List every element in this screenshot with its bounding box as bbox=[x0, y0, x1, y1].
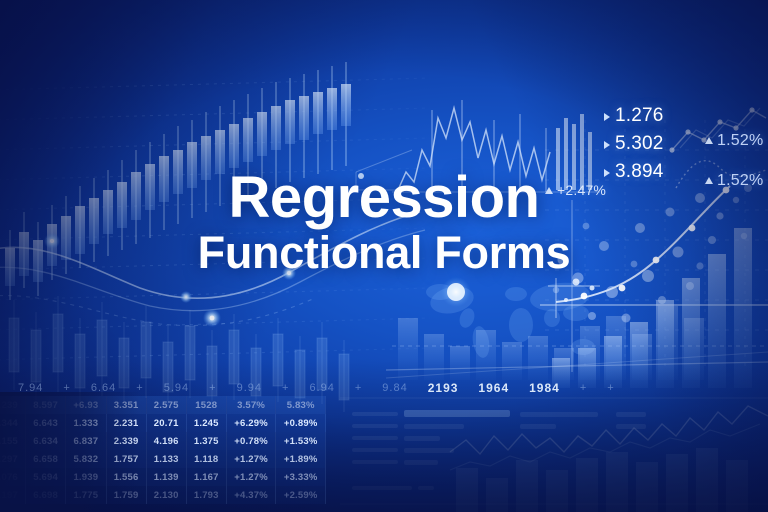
readout-value: 5.302 bbox=[615, 133, 664, 154]
table-cell: 6.837 bbox=[66, 432, 106, 450]
table-cell: 1.333 bbox=[66, 414, 106, 432]
table-cell: 3.351 bbox=[106, 396, 146, 414]
ticker-faint-1: 6.64 bbox=[91, 382, 116, 394]
table-cell: +2.59% bbox=[276, 486, 326, 504]
table-row: 1.2976.6585.8321.7571.1331.118+1.27%+1.8… bbox=[0, 450, 326, 468]
ticker-faint-2: 5.94 bbox=[164, 382, 189, 394]
bullet-arrow-icon bbox=[604, 113, 610, 121]
ticker-sep-1: + bbox=[136, 382, 143, 394]
table-cell: +0.78% bbox=[226, 432, 276, 450]
table-cell: 5.83% bbox=[276, 396, 326, 414]
ticker-sep-4: + bbox=[355, 382, 362, 394]
table-cell: 1.139 bbox=[146, 468, 186, 486]
ticker-sep-5: + bbox=[580, 382, 587, 394]
up-triangle-icon bbox=[705, 137, 713, 144]
hero-banner: 7.94 + 6.64 + 5.94 + 9.94 + 6.94 + 9.84 … bbox=[0, 0, 768, 512]
ticker-faint-4: 6.94 bbox=[309, 382, 334, 394]
table-cell: 2.239 bbox=[0, 396, 26, 414]
readout-3: 1.52% bbox=[705, 132, 763, 150]
table-row: 2.2398.597+6.933.3512.57515283.57%5.83% bbox=[0, 396, 326, 414]
table-cell: 6.658 bbox=[26, 450, 66, 468]
table-cell: +1.27% bbox=[226, 450, 276, 468]
table-cell: +1.27% bbox=[226, 468, 276, 486]
table-cell: +3.33% bbox=[276, 468, 326, 486]
ticker-sep-0: + bbox=[63, 382, 70, 394]
table-cell: 6.643 bbox=[26, 414, 66, 432]
table-cell: +0.89% bbox=[276, 414, 326, 432]
table-cell: 1.197 bbox=[0, 486, 26, 504]
table-cell: +4.37% bbox=[226, 486, 276, 504]
table-cell: 2.575 bbox=[146, 396, 186, 414]
table-cell: 1.375 bbox=[186, 432, 226, 450]
table-cell: 1528 bbox=[186, 396, 226, 414]
table-cell: 1.155 bbox=[0, 432, 26, 450]
ticker-sep-2: + bbox=[209, 382, 216, 394]
ticker-sep-3: + bbox=[282, 382, 289, 394]
table-cell: +1.89% bbox=[276, 450, 326, 468]
table-cell: 3.57% bbox=[226, 396, 276, 414]
table-row: 1.1976.6981.7751.7592.1301.793+4.37%+2.5… bbox=[0, 486, 326, 504]
ticker-faint-5: 9.84 bbox=[382, 382, 407, 394]
ticker-bright-2: 1984 bbox=[529, 381, 560, 395]
readout-0: 1.276 bbox=[604, 105, 664, 127]
table-cell: 2.339 bbox=[106, 432, 146, 450]
readout-value: 1.52% bbox=[717, 132, 763, 149]
table-cell: 1.245 bbox=[186, 414, 226, 432]
table-cell: 20.71 bbox=[146, 414, 186, 432]
table-cell: 1.939 bbox=[66, 468, 106, 486]
table-cell: +6.29% bbox=[226, 414, 276, 432]
table-cell: 1.759 bbox=[106, 486, 146, 504]
title-block: Regression Functional Forms bbox=[0, 168, 768, 276]
table-cell: 1.556 bbox=[106, 468, 146, 486]
table-cell: 1.076 bbox=[0, 468, 26, 486]
data-table: 2.2398.597+6.933.3512.57515283.57%5.83%1… bbox=[0, 396, 326, 504]
table-cell: +1.53% bbox=[276, 432, 326, 450]
table-cell: 1.118 bbox=[186, 450, 226, 468]
table-cell: 8.597 bbox=[26, 396, 66, 414]
table-cell: 5.832 bbox=[66, 450, 106, 468]
table-cell: 1.344 bbox=[0, 414, 26, 432]
table-cell: 1.775 bbox=[66, 486, 106, 504]
ticker-bright-0: 2193 bbox=[428, 381, 459, 395]
table-cell: 1.793 bbox=[186, 486, 226, 504]
table-cell: 1.167 bbox=[186, 468, 226, 486]
table-cell: 1.133 bbox=[146, 450, 186, 468]
table-cell: 1.297 bbox=[0, 450, 26, 468]
ticker-faint-0: 7.94 bbox=[18, 382, 43, 394]
bullet-arrow-icon bbox=[604, 141, 610, 149]
table-cell: 1.757 bbox=[106, 450, 146, 468]
table-cell: 2.231 bbox=[106, 414, 146, 432]
ticker-faint-3: 9.94 bbox=[237, 382, 262, 394]
readout-1: 5.302 bbox=[604, 133, 664, 155]
table-row: 1.0765.6941.9391.5561.1391.167+1.27%+3.3… bbox=[0, 468, 326, 486]
table-cell: 6.698 bbox=[26, 486, 66, 504]
table-cell: 2.130 bbox=[146, 486, 186, 504]
ticker-row: 7.94 + 6.64 + 5.94 + 9.94 + 6.94 + 9.84 … bbox=[0, 378, 768, 398]
ticker-bright-1: 1964 bbox=[478, 381, 509, 395]
table-cell: 4.196 bbox=[146, 432, 186, 450]
table-cell: 5.694 bbox=[26, 468, 66, 486]
page-subtitle: Functional Forms bbox=[0, 229, 768, 276]
table-cell: +6.93 bbox=[66, 396, 106, 414]
ticker-sep-6: + bbox=[607, 382, 614, 394]
table-cell: 6.634 bbox=[26, 432, 66, 450]
table-row: 1.1556.6346.8372.3394.1961.375+0.78%+1.5… bbox=[0, 432, 326, 450]
readout-value: 1.276 bbox=[615, 105, 664, 126]
page-title: Regression bbox=[0, 168, 768, 227]
table-row: 1.3446.6431.3332.23120.711.245+6.29%+0.8… bbox=[0, 414, 326, 432]
